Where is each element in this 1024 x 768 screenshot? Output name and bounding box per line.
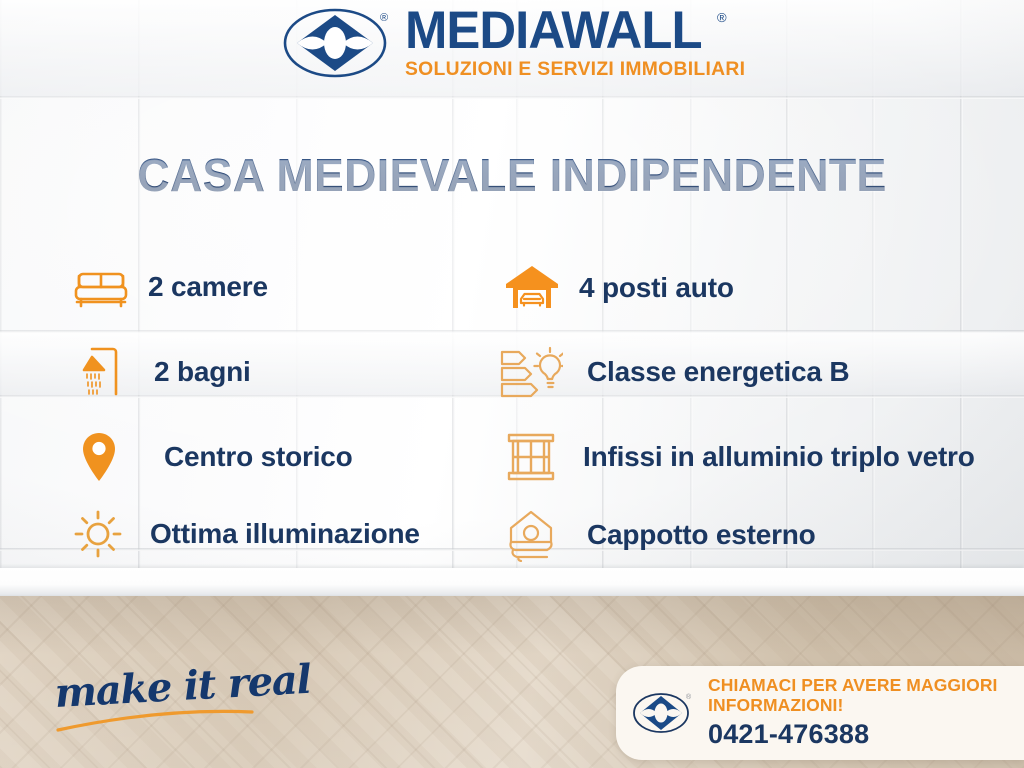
contact-card[interactable]: ® CHIAMACI PER AVERE MAGGIORI INFORMAZIO… — [616, 666, 1024, 760]
contact-headline: CHIAMACI PER AVERE MAGGIORI INFORMAZIONI… — [708, 676, 1012, 716]
contact-phone[interactable]: 0421-476388 — [708, 719, 1012, 750]
feature-item: Cappotto esterno — [505, 508, 816, 562]
feature-label: Ottima illuminazione — [150, 518, 420, 550]
energy-rating-bulb-icon — [497, 344, 563, 400]
feature-item: 2 bagni — [80, 344, 251, 400]
feature-item: Infissi in alluminio triplo vetro — [505, 430, 975, 484]
page-title: CASA MEDIEVALE INDIPENDENTE — [15, 148, 1008, 202]
feature-label: Cappotto esterno — [587, 519, 816, 551]
bed-icon — [72, 262, 130, 312]
features-section: 2 camere 2 — [0, 252, 1024, 562]
feature-item: 4 posti auto — [503, 262, 734, 314]
mediawall-eye-logo-icon: ® — [632, 688, 694, 738]
marketing-flyer: ® MEDIAWALL ® SOLUZIONI E SERVIZI IMMOBI… — [0, 0, 1024, 768]
feature-label: 2 camere — [148, 271, 268, 303]
feature-label: Centro storico — [164, 441, 353, 473]
contact-card-body: CHIAMACI PER AVERE MAGGIORI INFORMAZIONI… — [708, 676, 1012, 750]
tagline: make it real — [50, 668, 290, 740]
brand-subtitle: SOLUZIONI E SERVIZI IMMOBILIARI — [405, 58, 745, 81]
svg-text:®: ® — [380, 12, 388, 24]
feature-label: 2 bagni — [154, 356, 251, 388]
brand-name: MEDIAWALL — [405, 6, 702, 57]
window-icon — [505, 430, 557, 484]
tagline-swoosh-icon — [50, 668, 290, 740]
feature-item: Centro storico — [80, 430, 353, 484]
baseboard — [0, 568, 1024, 598]
feature-label: 4 posti auto — [579, 272, 734, 304]
shower-icon — [80, 344, 128, 400]
feature-item: Classe energetica B — [497, 344, 849, 400]
feature-label: Infissi in alluminio triplo vetro — [583, 441, 975, 473]
mediawall-eye-logo-icon: ® — [281, 6, 393, 80]
feature-item: Ottima illuminazione — [72, 508, 420, 560]
svg-text:®: ® — [686, 693, 692, 701]
house-insulation-icon — [505, 508, 557, 562]
sun-icon — [72, 508, 124, 560]
brand-logo: ® MEDIAWALL ® SOLUZIONI E SERVIZI IMMOBI… — [281, 6, 749, 81]
location-pin-icon — [80, 430, 118, 484]
feature-label: Classe energetica B — [587, 356, 849, 388]
feature-item: 2 camere — [72, 262, 268, 312]
garage-car-icon — [503, 262, 561, 314]
registered-mark: ® — [717, 10, 727, 25]
